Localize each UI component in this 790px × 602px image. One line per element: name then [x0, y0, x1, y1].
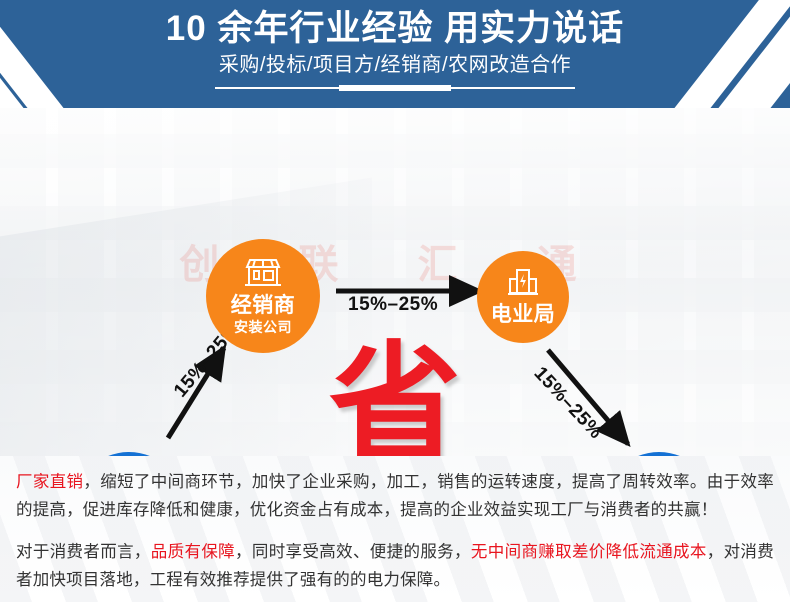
node-dealer-subtitle: 安装公司	[234, 318, 292, 336]
header-subline: 采购/投标/项目方/经销商/农网改造合作	[0, 51, 790, 79]
footer-highlight-quality: 品质有保障	[151, 543, 235, 561]
arrow-layer	[0, 108, 790, 456]
node-dealer-title: 经销商	[231, 294, 296, 318]
footer-paragraph-1-rest: ，缩短了中间商环节，加快了企业采购，加工，销售的运转速度，提高了周转效率。由于效…	[16, 473, 774, 519]
footer-paragraph-2-lead: 对于消费者而言，	[16, 543, 151, 561]
header-divider-thick	[339, 85, 451, 91]
footer-paragraph-2-mid: ，同时享受高效、便捷的服务，	[235, 543, 471, 561]
header-headline: 10 余年行业经验 用实力说话	[0, 9, 790, 49]
poster-header: 10 余年行业经验 用实力说话 采购/投标/项目方/经销商/农网改造合作	[0, 0, 790, 108]
node-bureau-title: 电业局	[491, 303, 556, 327]
node-bureau[interactable]: 电业局	[477, 251, 569, 343]
footer-highlight-factory-direct: 厂家直销	[16, 473, 83, 491]
shop-icon	[243, 256, 283, 294]
footer-highlight-no-middleman: 无中间商赚取差价降低流通成本	[471, 543, 707, 561]
footer-paragraph-1: 厂家直销，缩短了中间商环节，加快了企业采购，加工，销售的运转速度，提高了周转效率…	[16, 468, 774, 524]
power-building-icon	[505, 267, 541, 303]
arrow-label-dealer-to-bureau: 15%–25%	[348, 294, 438, 316]
footer-paragraph-2: 对于消费者而言，品质有保障，同时享受高效、便捷的服务，无中间商赚取差价降低流通成…	[16, 538, 774, 594]
node-dealer[interactable]: 经销商 安装公司	[206, 239, 320, 353]
header-divider	[215, 84, 575, 92]
promo-poster: 10 余年行业经验 用实力说话 采购/投标/项目方/经销商/农网改造合作 创 联…	[0, 0, 790, 602]
poster-footer: 厂家直销，缩短了中间商环节，加快了企业采购，加工，销售的运转速度，提高了周转效率…	[0, 456, 790, 602]
flow-diagram: 创 联 汇 通 省	[0, 108, 790, 456]
